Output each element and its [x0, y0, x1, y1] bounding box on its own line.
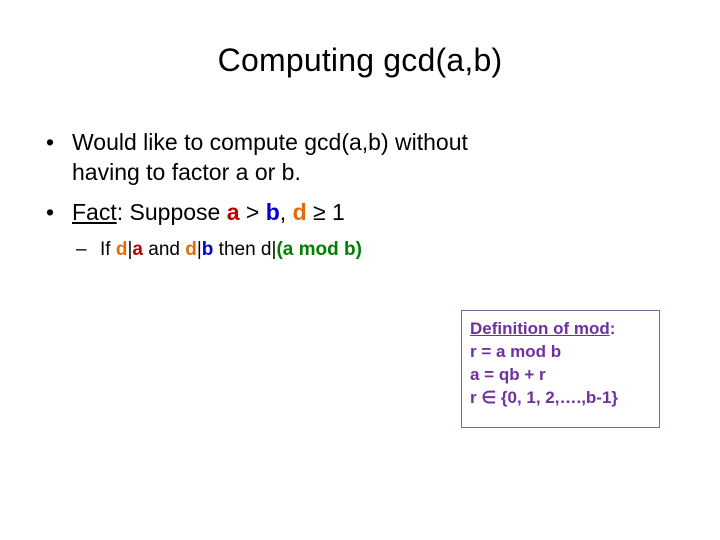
- sub-bullet-marker: –: [76, 238, 87, 263]
- var-d: d: [185, 239, 197, 260]
- expr-a-mod-b: (a mod b): [276, 239, 362, 260]
- bullet-item-fact: • Fact: Suppose a > b, d ≥ 1: [38, 198, 678, 228]
- definition-header-colon: :: [610, 319, 616, 338]
- slide: Computing gcd(a,b) • Would like to compu…: [0, 0, 720, 540]
- definition-header-row: Definition of mod:: [470, 318, 659, 341]
- var-b: b: [266, 199, 280, 225]
- var-d: d: [293, 199, 307, 225]
- bullet-line-1: Would like to compute gcd(a,b) without: [72, 129, 468, 155]
- slide-body: • Would like to compute gcd(a,b) without…: [38, 128, 678, 262]
- bullet-line-2: having to factor a or b.: [72, 159, 301, 185]
- sub-if: If: [100, 239, 116, 260]
- sub-bullet-item: – If d|a and d|b then d|(a mod b): [38, 238, 678, 263]
- definition-line-1: r = a mod b: [470, 341, 659, 364]
- bullet-item: • Would like to compute gcd(a,b) without…: [38, 128, 678, 188]
- sub-and: and: [143, 239, 185, 260]
- var-a: a: [227, 199, 240, 225]
- definition-of-mod-box: Definition of mod: r = a mod b a = qb + …: [461, 310, 660, 428]
- var-a: a: [132, 239, 143, 260]
- definition-line-3: r ∈ {0, 1, 2,….,b-1}: [470, 387, 659, 410]
- sub-then: then d|: [213, 239, 276, 260]
- bullet-marker: •: [46, 198, 54, 228]
- var-b: b: [202, 239, 214, 260]
- fact-tail: ≥ 1: [307, 199, 345, 225]
- page-title: Computing gcd(a,b): [0, 42, 720, 79]
- fact-gt: >: [240, 199, 266, 225]
- fact-comma: ,: [280, 199, 293, 225]
- fact-label: Fact: [72, 199, 117, 225]
- fact-colon: : Suppose: [117, 199, 227, 225]
- bullet-marker: •: [46, 128, 54, 158]
- var-d: d: [116, 239, 128, 260]
- definition-header: Definition of mod: [470, 319, 610, 338]
- definition-line-2: a = qb + r: [470, 364, 659, 387]
